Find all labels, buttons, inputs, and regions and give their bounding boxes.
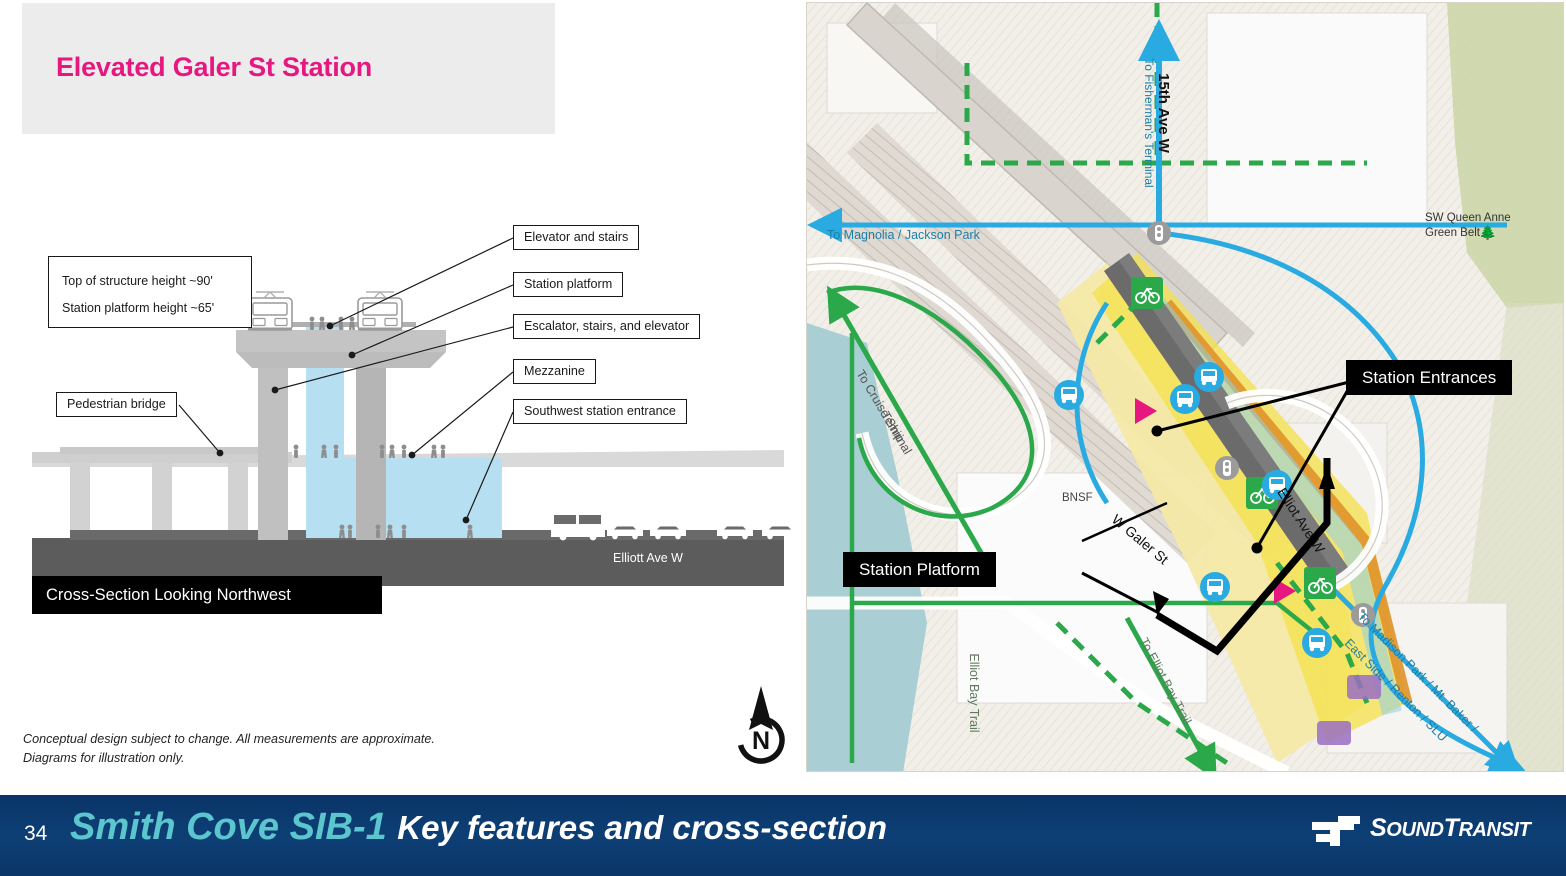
map-label-elliot-bay-trail: Elliot Bay Trail: [967, 653, 981, 732]
footnote: Conceptual design subject to change. All…: [23, 730, 435, 768]
callout-mezzanine: Mezzanine: [513, 359, 596, 384]
map-callout-station-platform: Station Platform: [843, 552, 996, 587]
wordmark-t: T: [1444, 814, 1459, 842]
footer-title-sub: Key features and cross-section: [397, 809, 887, 846]
bus-icon-3: [1194, 362, 1224, 392]
north-arrow-label: N: [752, 727, 770, 755]
height-notes-box: Top of structure height ~90' Station pla…: [48, 256, 252, 328]
height-note-structure: Top of structure height ~90': [62, 268, 251, 295]
wordmark-ransit: RANSIT: [1458, 819, 1530, 841]
callout-station-platform: Station platform: [513, 272, 623, 297]
page-number: 34: [24, 822, 47, 846]
bus-icon-6: [1302, 628, 1332, 658]
height-note-platform: Station platform height ~65': [62, 295, 251, 322]
traffic-signal-icon-1: [1147, 221, 1171, 245]
page-title: Elevated Galer St Station: [56, 52, 372, 83]
callout-escalator-stairs-elevator: Escalator, stairs, and elevator: [513, 314, 700, 339]
map-label-bnsf: BNSF: [1062, 492, 1093, 504]
roadway-label: Elliott Ave W: [613, 551, 683, 565]
footnote-line-2: Diagrams for illustration only.: [23, 749, 435, 768]
callout-southwest-station-entrance: Southwest station entrance: [513, 399, 687, 424]
bus-icon-1: [1054, 380, 1084, 410]
map-label-to-fishermans-terminal: To Fisherman's Terminal: [1142, 58, 1156, 187]
callout-pedestrian-bridge: Pedestrian bridge: [56, 392, 177, 417]
sound-transit-wordmark: SOUNDTRANSIT: [1370, 814, 1531, 843]
wordmark-ound: OUND: [1386, 819, 1443, 841]
map-callout-station-entrances: Station Entrances: [1346, 360, 1512, 395]
callout-elevator-and-stairs: Elevator and stairs: [513, 225, 639, 250]
map-label-to-magnolia-jackson-park: To Magnolia / Jackson Park: [827, 228, 981, 242]
footer-title: Smith Cove SIB-1 Key features and cross-…: [70, 806, 887, 849]
map-label-sw-queen-anne: SW Queen Anne: [1425, 212, 1511, 224]
map-label-15th-ave-w: 15th Ave W: [1155, 73, 1172, 154]
traffic-signal-icon-3: [1215, 456, 1239, 480]
footer-title-main: Smith Cove SIB-1: [70, 806, 387, 848]
bus-icon-5: [1200, 572, 1230, 602]
wordmark-s: S: [1370, 814, 1386, 842]
footnote-line-1: Conceptual design subject to change. All…: [23, 730, 435, 749]
bike-icon-north: [1131, 277, 1163, 309]
bike-icon-south: [1304, 567, 1336, 599]
tree-icon: 🌲: [1479, 224, 1496, 241]
map-label-green-belt: Green Belt: [1425, 227, 1481, 239]
cross-section-caption: Cross-Section Looking Northwest: [32, 576, 382, 614]
north-arrow-icon: N: [730, 682, 792, 764]
cross-section-panel: Elevated Galer St Station: [0, 0, 800, 795]
bus-icon-2: [1170, 384, 1200, 414]
